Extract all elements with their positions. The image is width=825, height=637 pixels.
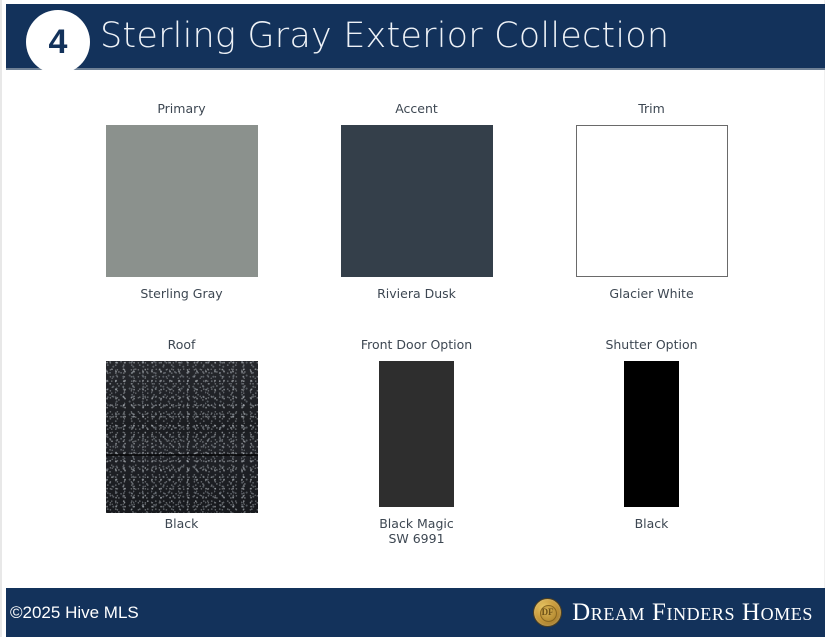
page-header: Sterling Gray Exterior Collection — [6, 4, 825, 68]
wax-seal-monogram: DF — [534, 599, 561, 626]
swatch-caption-main: Glacier White — [609, 286, 693, 301]
swatch-caption: Glacier White — [534, 286, 769, 301]
shingle-seam-line — [106, 454, 258, 456]
wax-seal-icon: DF — [534, 599, 561, 626]
page-footer: ©2025 Hive MLS DF Dream Finders Homes — [6, 588, 825, 637]
color-swatch-shutter[interactable] — [624, 361, 679, 507]
swatch-caption: Riviera Dusk — [299, 286, 534, 301]
swatch-wrap — [64, 361, 299, 507]
color-swatch-primary[interactable] — [106, 125, 258, 277]
swatch-title: Accent — [299, 101, 534, 117]
swatch-caption-main: Black Magic — [379, 516, 454, 531]
swatch-caption-code: SW 6991 — [299, 531, 534, 546]
shingle-swatch-roof[interactable] — [106, 361, 258, 513]
swatch-grid: Primary Sterling Gray Accent Riviera Dus… — [2, 68, 825, 588]
swatch-wrap — [299, 361, 534, 507]
swatch-caption-main: Riviera Dusk — [377, 286, 456, 301]
swatch-caption: Black — [534, 516, 769, 531]
brand-logo: DF Dream Finders Homes — [534, 588, 813, 637]
swatch-caption-main: Sterling Gray — [140, 286, 222, 301]
copyright-text: ©2025 Hive MLS — [10, 588, 139, 637]
swatch-title: Front Door Option — [299, 337, 534, 353]
swatch-caption: Black Magic SW 6991 — [299, 516, 534, 546]
presentation-page: Sterling Gray Exterior Collection 4 Prim… — [0, 0, 825, 637]
slide-number-value: 4 — [26, 10, 90, 74]
swatch-caption-main: Black — [165, 516, 199, 531]
swatch-wrap — [299, 125, 534, 277]
swatch-wrap — [534, 125, 769, 277]
swatch-wrap — [64, 125, 299, 277]
brand-name: Dream Finders Homes — [572, 599, 813, 627]
swatch-title: Primary — [64, 101, 299, 117]
swatch-caption: Black — [64, 516, 299, 531]
swatch-wrap — [534, 361, 769, 507]
swatch-cell-primary[interactable]: Primary Sterling Gray — [64, 101, 299, 301]
swatch-title: Shutter Option — [534, 337, 769, 353]
swatch-cell-front-door[interactable]: Front Door Option Black Magic SW 6991 — [299, 337, 534, 546]
swatch-title: Roof — [64, 337, 299, 353]
swatch-caption-main: Black — [635, 516, 669, 531]
slide-number-badge: 4 — [26, 10, 90, 74]
color-swatch-accent[interactable] — [341, 125, 493, 277]
swatch-cell-trim[interactable]: Trim Glacier White — [534, 101, 769, 301]
swatch-cell-accent[interactable]: Accent Riviera Dusk — [299, 101, 534, 301]
swatch-cell-shutter[interactable]: Shutter Option Black — [534, 337, 769, 531]
color-swatch-trim[interactable] — [576, 125, 728, 277]
swatch-cell-roof[interactable]: Roof Black — [64, 337, 299, 531]
color-swatch-front-door[interactable] — [379, 361, 454, 507]
page-title: Sterling Gray Exterior Collection — [100, 4, 669, 68]
swatch-title: Trim — [534, 101, 769, 117]
swatch-caption: Sterling Gray — [64, 286, 299, 301]
